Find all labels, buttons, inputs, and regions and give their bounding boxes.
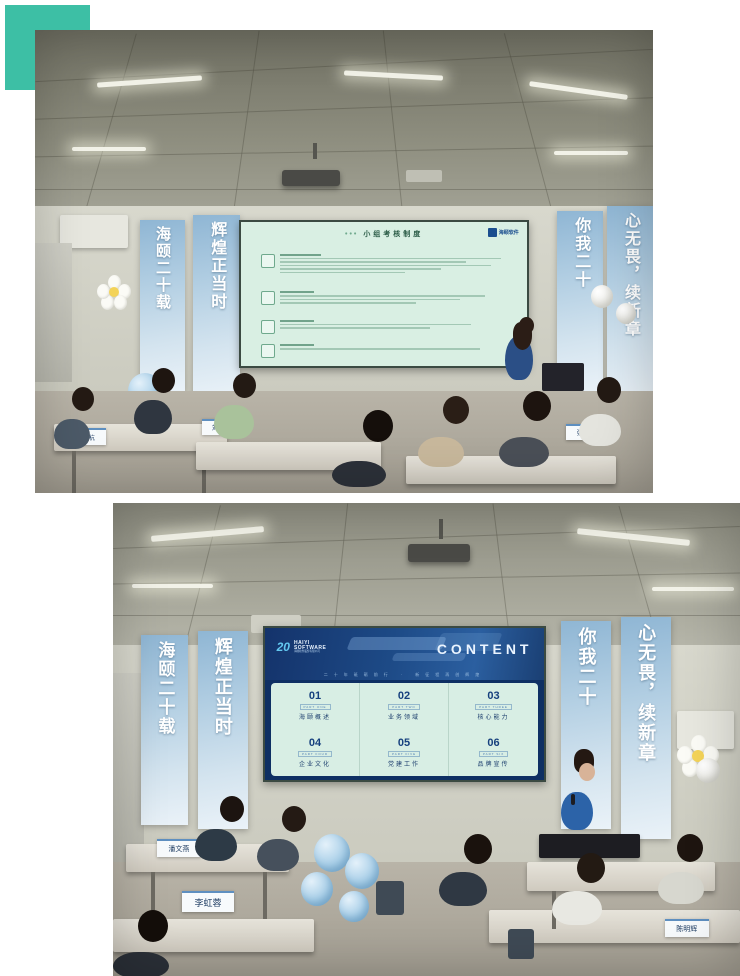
agenda-number: 02 [398,690,410,702]
banner-text: 辉煌正当时 [208,221,224,311]
paper-flower [97,275,131,309]
banner-text: 你我二十 [577,627,595,707]
attendee-body [439,872,487,906]
slide-section [261,344,507,358]
agenda-part: PART THREE [475,704,512,710]
banner-left-outer: 海颐二十载 [140,220,184,391]
door [35,243,72,382]
ceiling-light [132,584,214,588]
attendee-body [195,829,237,861]
agenda-item: 01 PART ONE 海颐概述 [271,683,360,729]
logo-line-3: 海颐软件股份有限公司 [294,651,326,654]
name-card: 李虹蓉 [182,891,234,912]
slide-title: 小组考核制度 [363,231,423,238]
name-card: 陈明辉 [665,919,709,937]
agenda-label: 业务领域 [388,712,420,721]
agenda-label: 海颐概述 [299,712,331,721]
agenda-item: 05 PART FIVE 党建工作 [360,729,449,775]
agenda-number: 05 [398,737,410,749]
balloon [591,285,613,308]
photo-top: 海颐二十载 辉煌正当时 你我二十 心无畏，续新章 [35,30,653,493]
chair [508,929,534,959]
section-icon [261,344,275,358]
agenda-item: 03 PART THREE 核心能力 [449,683,538,729]
attendee-body [113,952,169,976]
projection-screen: 20 HAIYI SOFTWARE 海颐软件股份有限公司 CONTENT 二十年… [263,626,545,782]
banner-left-inner: 辉煌正当时 [193,215,240,396]
banner-left-outer: 海颐二十载 [141,635,188,824]
presenter-body [561,792,593,830]
banner-text: 你我二十 [572,217,588,289]
agenda-number: 04 [309,737,321,749]
agenda-number: 01 [309,690,321,702]
name-card-text: 李虹蓉 [194,896,221,909]
ceiling-vent [406,170,442,182]
attendee-body [54,419,90,449]
attendee-head [464,834,492,864]
photo-bottom-scene: 海颐二十载 辉煌正当时 你我二十 心无畏，续新章 [113,503,740,976]
attendee-body [658,872,704,904]
page-root: 海颐二十载 辉煌正当时 你我二十 心无畏，续新章 [0,0,740,976]
slide-section [261,291,507,305]
attendee-body [332,461,386,487]
presenter-hair [513,322,532,350]
balloon [616,303,636,324]
balloon [301,872,333,906]
section-lines [280,291,507,304]
section-lines [280,344,507,350]
photo-top-scene: 海颐二十载 辉煌正当时 你我二十 心无畏，续新章 [35,30,653,493]
attendee-head [282,806,306,832]
banner-right-outer: 心无畏，续新章 [607,206,653,396]
photo-bottom: 海颐二十载 辉煌正当时 你我二十 心无畏，续新章 [113,503,740,976]
attendee-head [443,396,469,424]
agenda-label: 核心能力 [478,712,510,721]
ceiling-light [72,147,146,151]
projector [408,544,470,562]
banner-text: 心无畏，续新章 [637,623,655,763]
banner-text: 辉煌正当时 [214,637,232,737]
agenda-item: 06 PART SIX 品牌宣传 [449,729,538,775]
banner-text: 海颐二十载 [156,641,173,736]
attendee-body [418,437,464,467]
section-lines [280,254,507,274]
banner-right-outer: 心无畏，续新章 [621,617,671,839]
slide-title-dots: ••• [345,231,358,238]
agenda-part: PART ONE [300,704,331,710]
agenda-item: 02 PART TWO 业务领域 [360,683,449,729]
agenda-part: PART SIX [479,751,508,757]
podium-monitor [542,363,584,391]
door [113,673,144,862]
projection-screen: 海颐软件 ••• 小组考核制度 [239,220,529,368]
section-icon [261,320,275,334]
microphone [571,794,575,805]
slide-title: CONTENT [437,641,533,657]
balloon [314,834,350,872]
agenda-part: PART TWO [388,704,419,710]
slide-subtitle: 二十年砥砺前行 · 新征程再创辉煌 [265,672,543,678]
projector-mount [439,519,443,539]
section-icon [261,291,275,305]
desk-leg [263,872,267,919]
slide-section [261,254,507,274]
agenda-number: 06 [487,737,499,749]
name-card-text: 潘文燕 [168,844,189,854]
attendee-body [499,437,549,467]
attendee-body [214,405,254,439]
ceiling-light [652,587,734,591]
slide-logo-text: HAIYI SOFTWARE 海颐软件股份有限公司 [294,641,326,654]
attendee-head [363,410,393,442]
chair [376,881,404,915]
attendee-head [577,853,605,883]
agenda-label: 品牌宣传 [478,759,510,768]
balloon [339,891,369,922]
agenda-part: PART FOUR [298,751,332,757]
ceiling-tile-grid [35,30,653,224]
slide-agenda-grid: 01 PART ONE 海颐概述 02 PART TWO 业务领域 03 PAR… [271,683,538,776]
slide-title-row: ••• 小组考核制度 [241,229,527,239]
anniversary-mark: 20 [277,640,290,654]
attendee-head [220,796,244,822]
agenda-label: 企业文化 [299,759,331,768]
attendee-head [233,373,256,398]
attendee-head [138,910,168,942]
agenda-item: 04 PART FOUR 企业文化 [271,729,360,775]
attendee-body [552,891,602,925]
desk-leg [72,451,76,493]
projector-mount [313,143,317,159]
agenda-number: 03 [487,690,499,702]
ceiling [35,30,653,224]
section-lines [280,320,507,329]
projector [282,170,340,186]
agenda-part: PART FIVE [388,751,420,757]
ceiling-light [554,151,628,155]
name-card-text: 陈明辉 [676,924,697,934]
banner-text: 海颐二十载 [155,226,170,311]
attendee-head [72,387,94,411]
attendee-body [257,839,299,871]
slide-header: 20 HAIYI SOFTWARE 海颐软件股份有限公司 CONTENT 二十年… [265,628,543,680]
slide-section [261,320,507,334]
section-icon [261,254,275,268]
balloon [345,853,379,889]
attendee-body [579,414,621,446]
slide-logo: 20 HAIYI SOFTWARE 海颐软件股份有限公司 [277,640,327,654]
agenda-label: 党建工作 [388,759,420,768]
attendee-body [134,400,172,434]
